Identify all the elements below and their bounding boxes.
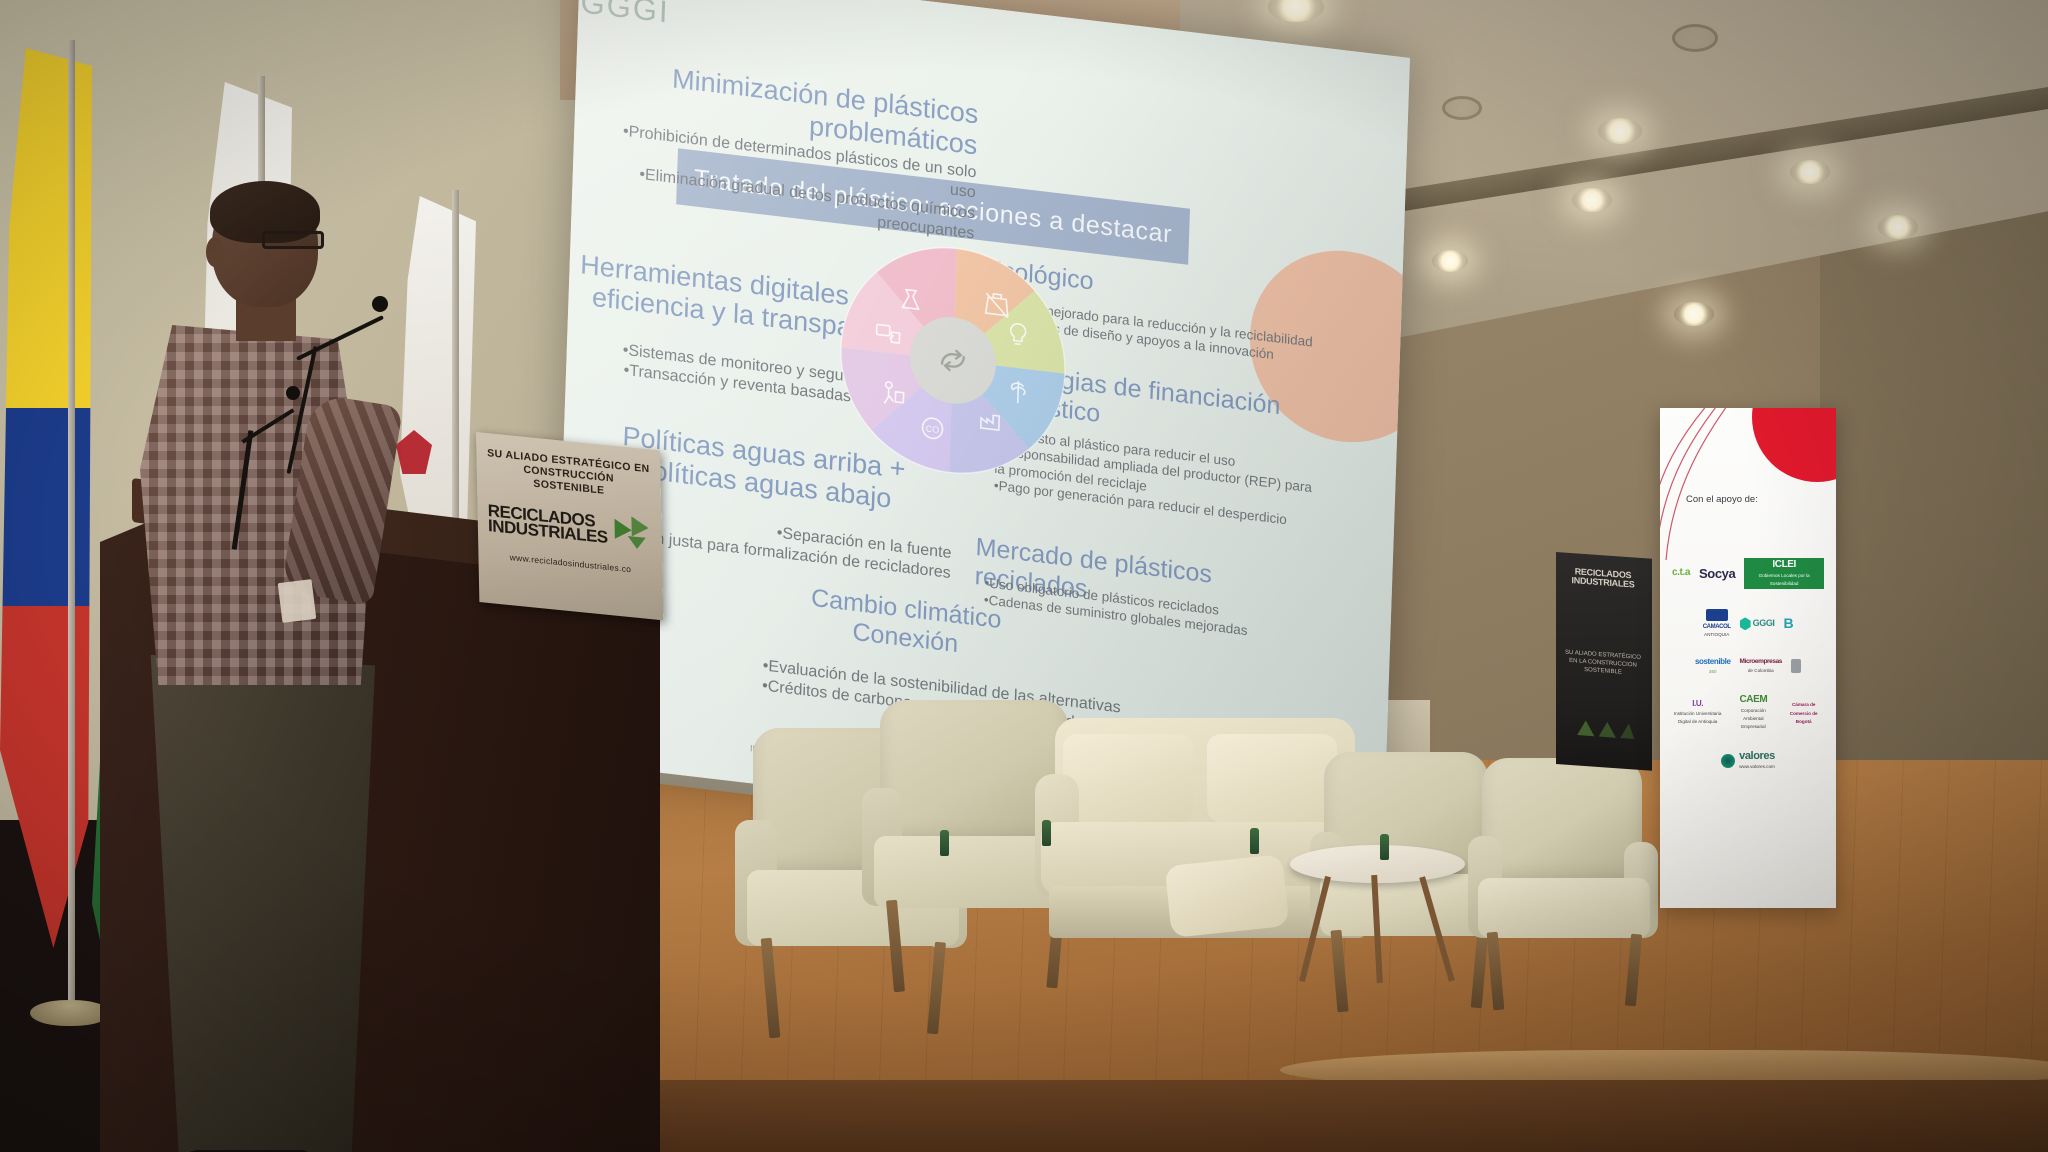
sponsor-logo-grid: c.t.a Socya ICLEI Gobiernos Locales por … [1672, 558, 1824, 791]
water-bottle [1380, 834, 1389, 860]
banner-reciclados-industriales: RECICLADOS INDUSTRIALES SU ALIADO ESTRAT… [1556, 552, 1652, 771]
ceiling-light [1572, 188, 1612, 212]
banner-accent-arc [1752, 408, 1836, 482]
stage-front-face [430, 1080, 2048, 1152]
institucion-universitaria-logo: I.U. Institución Universitaria Digital d… [1672, 700, 1723, 725]
sofa-throw-cushion [1165, 854, 1290, 938]
podium-sign-tagline: SU ALIADO ESTRATÉGICO EN CONSTRUCCIÓN SO… [486, 447, 651, 503]
gggi-logo: GGGI [1740, 617, 1775, 630]
sponsor-row: valores www.valores.com [1672, 751, 1824, 771]
socya-logo: Socya [1699, 567, 1735, 581]
caem-logo: CAEM Corporación Ambiental Empresarial [1732, 695, 1774, 731]
ceiling-light [1598, 118, 1642, 144]
chair-back [1482, 758, 1642, 886]
banner-dark-tagline: SU ALIADO ESTRATÉGICO EN LA CONSTRUCCIÓN… [1564, 649, 1642, 679]
banner-dark-brand: RECICLADOS INDUSTRIALES [1564, 567, 1642, 590]
sponsor-row: CAMACOL ANTIOQUIA GGGI B [1672, 609, 1824, 638]
ceiling-vent [1442, 96, 1482, 120]
camacol-logo: CAMACOL ANTIOQUIA [1703, 609, 1731, 638]
cta-logo: c.t.a [1672, 568, 1690, 579]
sponsor-row: c.t.a Socya ICLEI Gobiernos Locales por … [1672, 558, 1824, 589]
ceiling-light [1790, 160, 1830, 184]
flag-base [30, 1000, 110, 1026]
speaker-badge [278, 579, 317, 623]
podium-sign-brand: RECICLADOS INDUSTRIALES [487, 500, 652, 552]
iclei-logo: ICLEI Gobiernos Locales por la Sostenibi… [1744, 558, 1824, 589]
recycling-triangle-icon [1570, 713, 1636, 746]
chair-seat [1478, 878, 1650, 938]
water-bottle [940, 830, 949, 856]
microphone-capsule-icon [372, 296, 388, 312]
microempresas-colombia-logo: Microempresas de Colombia [1740, 659, 1783, 674]
slide-circular-diagram: CO [834, 232, 1072, 489]
ceiling-light [1674, 302, 1714, 326]
podium-sign-url: www.recicladosindustriales.co [488, 550, 652, 576]
armchair [1468, 758, 1664, 1044]
coffee-table [1290, 845, 1465, 985]
b-corp-logo: B [1784, 616, 1794, 631]
slide-logo-text: GGGI [580, 0, 670, 31]
chair-leg [886, 900, 905, 993]
banner-sponsors: Con el apoyo de: c.t.a Socya ICLEI Gobie… [1660, 408, 1836, 908]
microphone-capsule-icon [286, 386, 300, 400]
sofa-cushion-left [1063, 734, 1193, 822]
partner-logo-a [1791, 659, 1801, 675]
chair-leg [1487, 932, 1505, 1011]
speaker-legs [136, 655, 380, 1152]
table-leg [1371, 875, 1383, 983]
ceiling-light [1878, 215, 1918, 239]
speaker-ear [206, 237, 224, 267]
water-bottle [1042, 820, 1051, 846]
sostenible-logo: sostenible 360 [1695, 658, 1731, 675]
chair-leg [1625, 934, 1642, 1007]
water-bottle [1250, 828, 1259, 854]
flagpole [68, 40, 75, 1020]
valores-logo: valores www.valores.com [1721, 751, 1775, 771]
sponsor-row: I.U. Institución Universitaria Digital d… [1672, 695, 1824, 731]
podium-sign: SU ALIADO ESTRATÉGICO EN CONSTRUCCIÓN SO… [476, 432, 663, 620]
table-leg [1419, 876, 1455, 981]
chair-leg [761, 938, 781, 1039]
ceiling-light [1432, 250, 1468, 272]
sponsor-row: sostenible 360 Microempresas de Colombia [1672, 658, 1824, 675]
banner-support-label: Con el apoyo de: [1686, 494, 1758, 505]
table-top [1290, 845, 1465, 883]
recycling-arrows-icon [929, 335, 977, 386]
ceiling-vent [1672, 24, 1718, 52]
recycling-triangle-icon [611, 513, 652, 553]
photo-scene: GGGI Tratado del plástico: acciones a de… [0, 0, 2048, 1152]
svg-text:CO: CO [926, 424, 940, 436]
speaker [120, 185, 440, 1152]
speaker-glasses [262, 231, 324, 249]
camara-comercio-bogota-logo: Cámara de Comercio de Bogotá [1783, 700, 1824, 725]
table-leg [1299, 876, 1331, 982]
